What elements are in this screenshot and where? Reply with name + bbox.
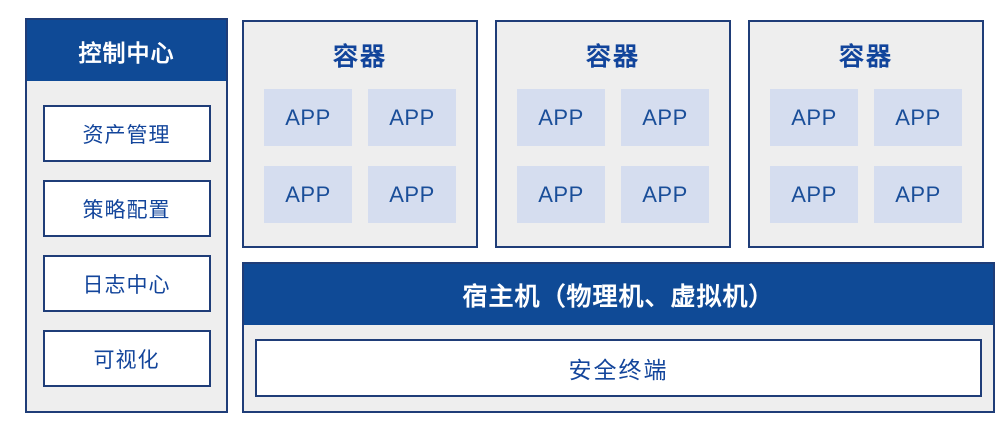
sidebar-item-label: 可视化 — [94, 344, 160, 374]
app-box: APP — [368, 166, 456, 223]
app-box: APP — [770, 166, 858, 223]
architecture-diagram: 控制中心 资产管理 策略配置 日志中心 可视化 容器 APP APP APP A… — [0, 0, 1001, 437]
sidebar-item-label: 日志中心 — [83, 269, 171, 299]
host-machine-panel: 宿主机（物理机、虚拟机） 安全终端 — [242, 262, 995, 413]
app-grid: APP APP APP APP — [770, 89, 962, 223]
app-box: APP — [621, 89, 709, 146]
sidebar-item-label: 资产管理 — [83, 119, 171, 149]
app-box: APP — [264, 166, 352, 223]
app-grid: APP APP APP APP — [264, 89, 456, 223]
app-box: APP — [264, 89, 352, 146]
app-box: APP — [517, 89, 605, 146]
control-center-item-list: 资产管理 策略配置 日志中心 可视化 — [27, 81, 226, 411]
sidebar-item-asset-management[interactable]: 资产管理 — [43, 105, 211, 162]
sidebar-item-log-center[interactable]: 日志中心 — [43, 255, 211, 312]
sidebar-item-label: 策略配置 — [83, 194, 171, 224]
app-box: APP — [874, 89, 962, 146]
security-endpoint-box: 安全终端 — [255, 339, 982, 397]
container-card: 容器 APP APP APP APP — [495, 20, 731, 248]
host-machine-title: 宿主机（物理机、虚拟机） — [244, 264, 993, 325]
container-title: 容器 — [333, 37, 387, 73]
sidebar-item-policy-configuration[interactable]: 策略配置 — [43, 180, 211, 237]
container-card: 容器 APP APP APP APP — [748, 20, 984, 248]
app-grid: APP APP APP APP — [517, 89, 709, 223]
app-box: APP — [368, 89, 456, 146]
app-box: APP — [874, 166, 962, 223]
container-title: 容器 — [586, 37, 640, 73]
app-box: APP — [517, 166, 605, 223]
control-center-title: 控制中心 — [27, 20, 226, 81]
control-center-panel: 控制中心 资产管理 策略配置 日志中心 可视化 — [25, 18, 228, 413]
container-title: 容器 — [839, 37, 893, 73]
app-box: APP — [621, 166, 709, 223]
host-machine-body: 安全终端 — [244, 325, 993, 411]
sidebar-item-visualization[interactable]: 可视化 — [43, 330, 211, 387]
app-box: APP — [770, 89, 858, 146]
container-card: 容器 APP APP APP APP — [242, 20, 478, 248]
